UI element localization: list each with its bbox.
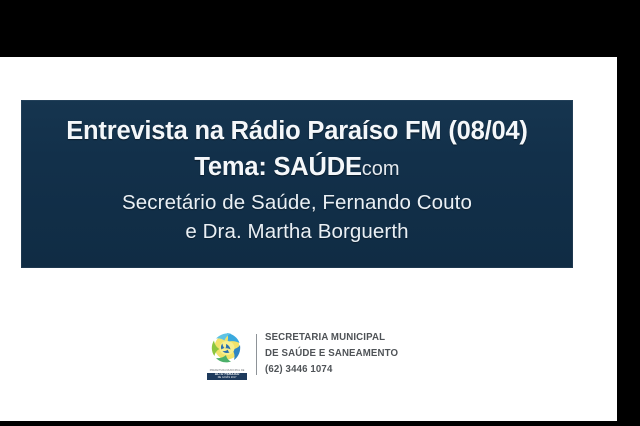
emblem-caption-sub: DE GOIÁS 2017 [207, 377, 247, 380]
slide-title-line-1: Entrevista na Rádio Paraíso FM (08/04) [39, 117, 555, 146]
municipality-emblem-icon: PREFEITURA MUNICIPAL DE ALTO PARAÍSO DE … [207, 328, 247, 380]
slide-guest-line-1: Secretário de Saúde, Fernando Couto [39, 192, 555, 215]
slide-topic-label: Tema: SAÚDE [194, 153, 361, 181]
org-name-line-2: DE SAÚDE E SANEAMENTO [265, 346, 398, 362]
video-player-frame: Entrevista na Rádio Paraíso FM (08/04) T… [0, 0, 640, 426]
letterbox-top-bar [0, 0, 640, 57]
slide-title-line-2: Tema: SAÚDEcom [39, 153, 555, 182]
pillarbox-right-bar [617, 0, 640, 426]
org-name-line-1: SECRETARIA MUNICIPAL [265, 330, 398, 346]
slide-guest-line-2: e Dra. Martha Borguerth [39, 221, 555, 244]
slide-topic-connector: com [362, 158, 400, 180]
logo-divider [256, 334, 257, 375]
presentation-slide: Entrevista na Rádio Paraíso FM (08/04) T… [0, 57, 617, 421]
title-panel: Entrevista na Rádio Paraíso FM (08/04) T… [21, 100, 573, 268]
footer-logo-lockup: PREFEITURA MUNICIPAL DE ALTO PARAÍSO DE … [0, 328, 617, 380]
org-phone-number: (62) 3446 1074 [265, 362, 398, 378]
letterbox-bottom-bar [0, 421, 640, 426]
emblem-caption: PREFEITURA MUNICIPAL DE ALTO PARAÍSO DE … [207, 370, 247, 380]
organization-text-block: SECRETARIA MUNICIPAL DE SAÚDE E SANEAMEN… [265, 330, 410, 378]
logo-lockup-inner: PREFEITURA MUNICIPAL DE ALTO PARAÍSO DE … [207, 328, 410, 380]
